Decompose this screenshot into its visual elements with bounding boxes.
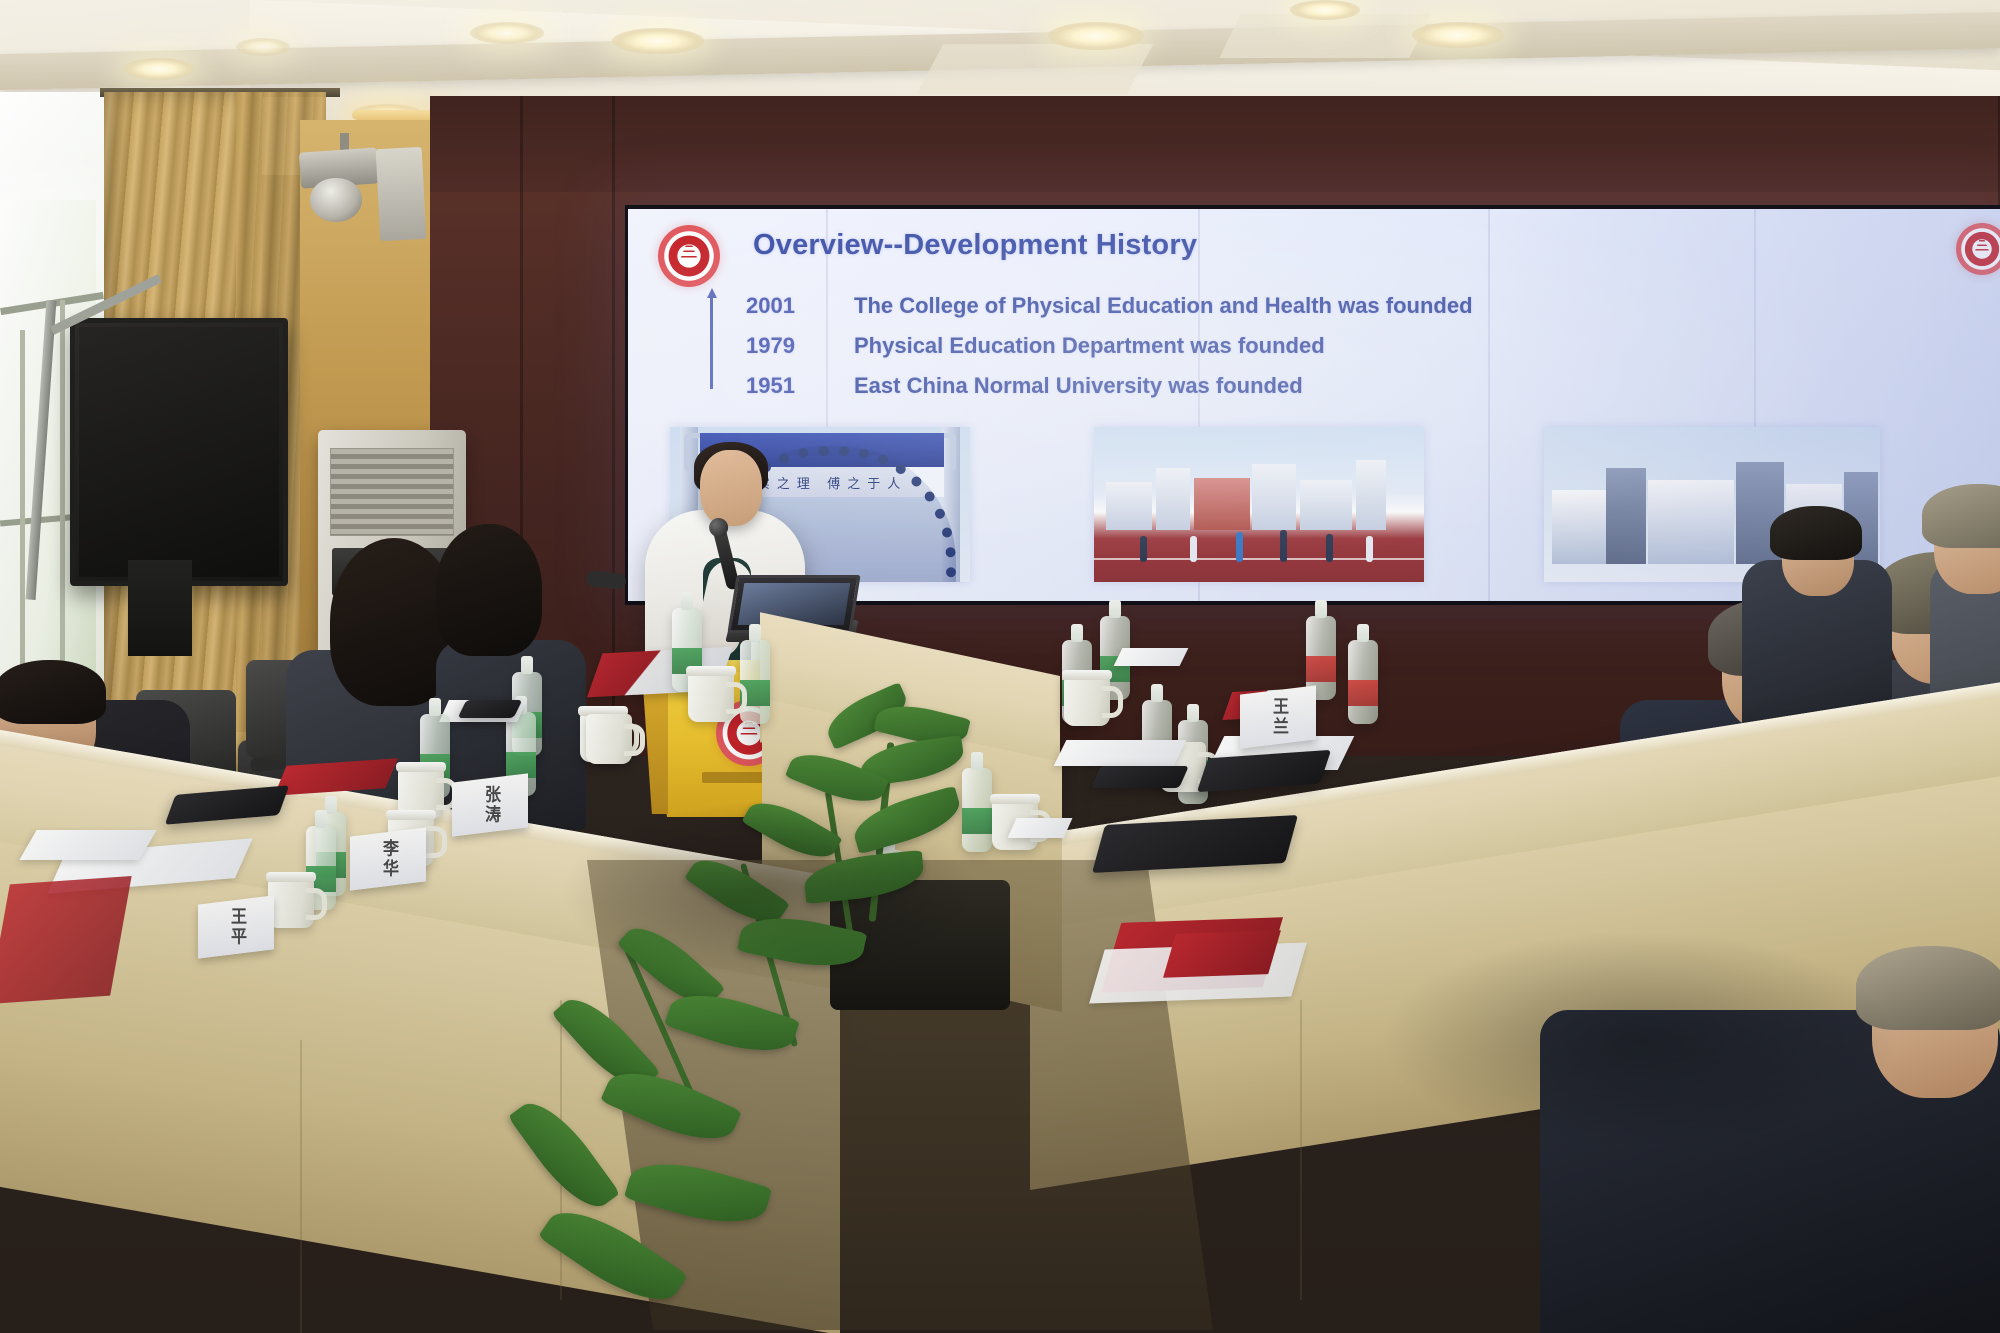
background-building <box>1156 468 1190 530</box>
runner-figure <box>1280 530 1287 562</box>
timeline-year: 1951 <box>746 373 854 399</box>
ecnu-seal-logo <box>658 225 720 287</box>
water-bottle[interactable] <box>1348 640 1378 724</box>
tablet-device[interactable] <box>458 700 523 718</box>
document-paper[interactable] <box>1114 648 1189 666</box>
wood-panel-wall-top-band <box>430 96 2000 192</box>
document-folder[interactable] <box>0 876 132 1004</box>
display-screen <box>79 327 279 577</box>
tea-cup-with-lid[interactable] <box>268 878 314 928</box>
tea-cup-lid[interactable] <box>386 810 436 820</box>
ceiling-downlight <box>470 22 544 44</box>
ecnu-seal-logo <box>1956 223 2000 275</box>
timeline-axis-arrow <box>710 297 713 389</box>
runner-figure <box>1190 536 1197 562</box>
conference-room-photo: Overview--Development History 2001 The C… <box>0 0 2000 1333</box>
runner-figure <box>1140 536 1147 562</box>
document-paper[interactable] <box>1054 740 1187 766</box>
wall-speaker <box>376 147 427 241</box>
name-card-text: 张涛 <box>478 785 502 825</box>
runner-figure <box>1326 534 1333 562</box>
background-building <box>1252 464 1296 530</box>
name-card-text: 王兰 <box>1266 697 1290 737</box>
name-tent-card: 王平 <box>198 895 274 958</box>
attendee-hair <box>0 660 106 724</box>
ceiling-downlight <box>124 58 194 80</box>
timeline-row: 1979 Physical Education Department was f… <box>746 333 1325 359</box>
air-conditioner-vent <box>330 448 454 536</box>
timeline-year: 2001 <box>746 293 854 319</box>
name-tent-card: 张涛 <box>452 773 528 836</box>
water-bottle[interactable] <box>962 768 992 852</box>
table-skirt-fold <box>300 1040 302 1333</box>
tea-cup-lid[interactable] <box>1062 670 1112 680</box>
slide-title: Overview--Development History <box>753 229 1197 262</box>
ceiling-panel <box>1219 14 1430 58</box>
runner-figure <box>1236 532 1243 562</box>
ceiling-downlight <box>236 38 290 56</box>
tea-cup-lid[interactable] <box>990 794 1040 804</box>
tea-cup-with-lid[interactable] <box>688 672 734 722</box>
document-paper[interactable] <box>19 830 156 860</box>
running-track-photo <box>1094 427 1424 582</box>
background-building <box>1194 478 1250 530</box>
runner-figure <box>1366 536 1373 562</box>
dome-security-camera-lens <box>310 178 362 222</box>
water-bottle[interactable] <box>740 640 770 724</box>
timeline-event: The College of Physical Education and He… <box>854 293 1473 319</box>
name-card-text: 李华 <box>376 839 400 879</box>
ceiling-downlight <box>1048 22 1144 50</box>
timeline-row: 2001 The College of Physical Education a… <box>746 293 1473 319</box>
tea-cup-lid[interactable] <box>266 872 316 882</box>
table-skirt-fold <box>1300 1000 1302 1300</box>
document-folder[interactable] <box>1163 930 1281 978</box>
timeline-event: Physical Education Department was founde… <box>854 333 1325 359</box>
tea-cup-lid[interactable] <box>686 666 736 676</box>
presenter-head <box>700 450 762 526</box>
ceiling-downlight <box>1290 0 1360 20</box>
campus-building <box>1552 490 1606 564</box>
attendee-hair <box>436 524 542 656</box>
background-building <box>1356 460 1386 530</box>
ceiling-downlight <box>1412 22 1504 48</box>
campus-building <box>1648 480 1734 564</box>
wall-mounted-display-monitor[interactable] <box>70 318 288 586</box>
background-building <box>1106 482 1152 530</box>
name-tent-card: 王兰 <box>1240 685 1316 748</box>
tablet-device[interactable] <box>1091 766 1189 788</box>
timeline-year: 1979 <box>746 333 854 359</box>
background-building <box>1300 480 1352 530</box>
timeline-event: East China Normal University was founded <box>854 373 1303 399</box>
campus-building <box>1606 468 1646 564</box>
document-paper[interactable] <box>1008 818 1073 838</box>
name-card-text: 王平 <box>224 907 248 947</box>
monitor-stand-base <box>128 560 192 656</box>
timeline-row: 1951 East China Normal University was fo… <box>746 373 1303 399</box>
ceiling-downlight <box>612 28 704 54</box>
tea-cup-with-lid[interactable] <box>586 714 632 764</box>
attendee-hair <box>1856 946 2000 1030</box>
ceiling-panel <box>917 44 1154 94</box>
tea-cup-with-lid[interactable] <box>1064 676 1110 726</box>
tea-cup-lid[interactable] <box>396 762 446 772</box>
attendee-hair <box>1770 506 1862 560</box>
ceiling-light-strip <box>352 110 442 120</box>
name-tent-card: 李华 <box>350 827 426 890</box>
